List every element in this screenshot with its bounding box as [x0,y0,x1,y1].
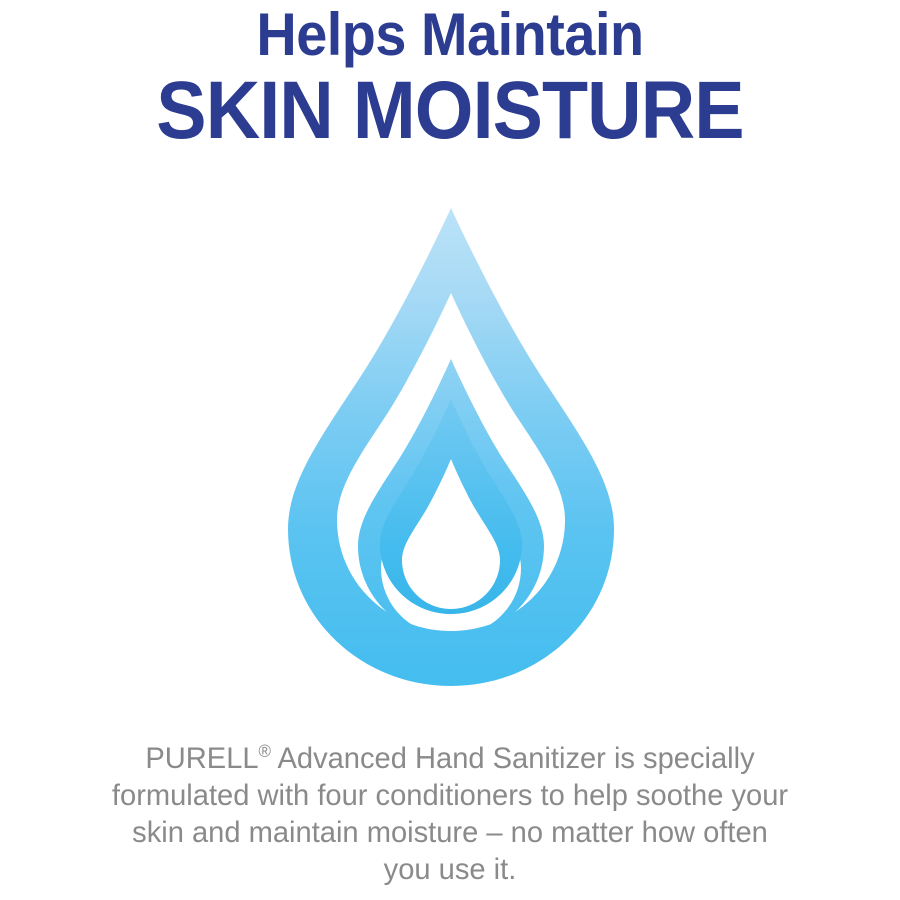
page-title-secondary: SKIN MOISTURE [36,68,864,154]
caption-line-4: you use it. [62,851,838,888]
water-droplet-icon [281,205,621,689]
caption-line-1-rest: Advanced Hand Sanitizer is specially [271,742,755,775]
caption-block: PURELL® Advanced Hand Sanitizer is speci… [50,740,850,888]
caption-line-2: formulated with four conditioners to hel… [62,777,838,814]
droplet-ring-inner [281,205,621,689]
brand-name: PURELL [145,742,258,775]
caption-line-3: skin and maintain moisture – no matter h… [62,814,838,851]
registered-trademark-symbol: ® [259,741,271,761]
caption-line-1: PURELL® Advanced Hand Sanitizer is speci… [62,740,838,777]
product-feature-poster: Helps Maintain SKIN MOISTURE [0,0,900,900]
page-title-primary: Helps Maintain [32,0,869,68]
heading-block: Helps Maintain SKIN MOISTURE [0,0,900,154]
